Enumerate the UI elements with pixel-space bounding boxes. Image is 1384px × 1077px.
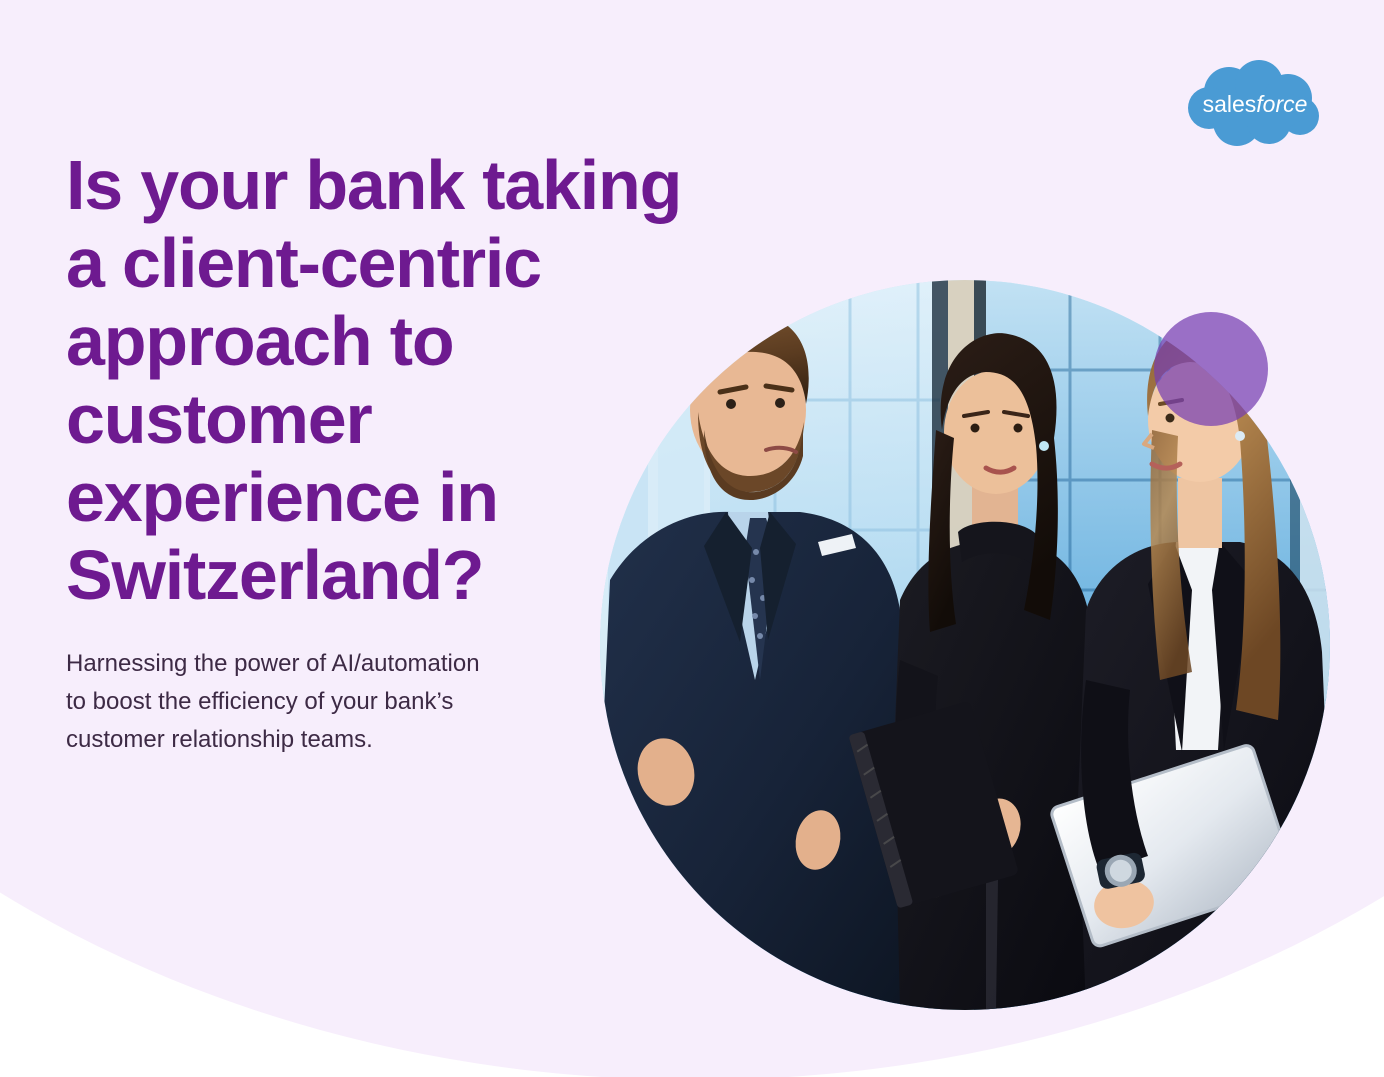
headline-line-5: experience in [66,458,806,536]
salesforce-cloud-logo: salesforce [1185,60,1325,152]
subtitle-line-1: Harnessing the power of AI/automation [66,645,586,683]
purple-accent-circle [1154,312,1268,426]
cloud-icon: salesforce [1185,60,1325,152]
page-subtitle: Harnessing the power of AI/automation to… [66,645,586,759]
headline-line-2: a client-centric [66,224,806,302]
headline-line-6: Switzerland? [66,536,806,614]
headline-line-4: customer [66,380,806,458]
cover-page: salesforce Is your bank taking a client-… [0,0,1384,1077]
page-title: Is your bank taking a client-centric app… [66,146,806,614]
subtitle-line-3: customer relationship teams. [66,721,586,759]
headline-line-1: Is your bank taking [66,146,806,224]
subtitle-line-2: to boost the efficiency of your bank’s [66,683,586,721]
salesforce-wordmark-sales: salesforce [1203,91,1308,117]
headline-line-3: approach to [66,302,806,380]
